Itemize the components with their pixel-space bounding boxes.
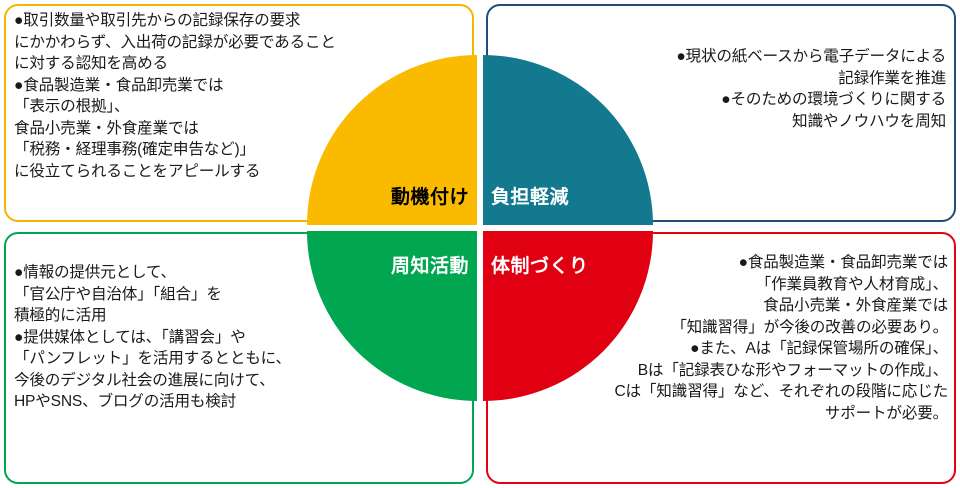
pie-quadrant-system-building: 体制づくり: [483, 231, 653, 401]
pie-label-system-building: 体制づくり: [491, 251, 589, 278]
center-circle: 動機付け 負担軽減 周知活動 体制づくり: [307, 55, 653, 401]
diagram-canvas: ●取引数量や取引先からの記録保存の要求 にかかわらず、入出荷の記録が必要であるこ…: [0, 0, 960, 488]
pie-label-burden-reduction: 負担軽減: [491, 182, 569, 209]
pie-quadrant-burden-reduction: 負担軽減: [483, 55, 653, 225]
pie-label-motivation: 動機付け: [391, 182, 469, 209]
pie-quadrant-awareness-activity: 周知活動: [307, 231, 477, 401]
quadrant-body-burden-reduction: ●現状の紙ベースから電子データによる 記録作業を推進 ●そのための環境づくりに関…: [606, 46, 946, 132]
quadrant-body-motivation: ●取引数量や取引先からの記録保存の要求 にかかわらず、入出荷の記録が必要であるこ…: [14, 10, 344, 182]
quadrant-body-awareness-activity: ●情報の提供元として、 「官公庁や自治体」「組合」を 積極的に活用 ●提供媒体と…: [14, 262, 354, 413]
pie-quadrant-motivation: 動機付け: [307, 55, 477, 225]
pie-label-awareness-activity: 周知活動: [391, 251, 469, 278]
